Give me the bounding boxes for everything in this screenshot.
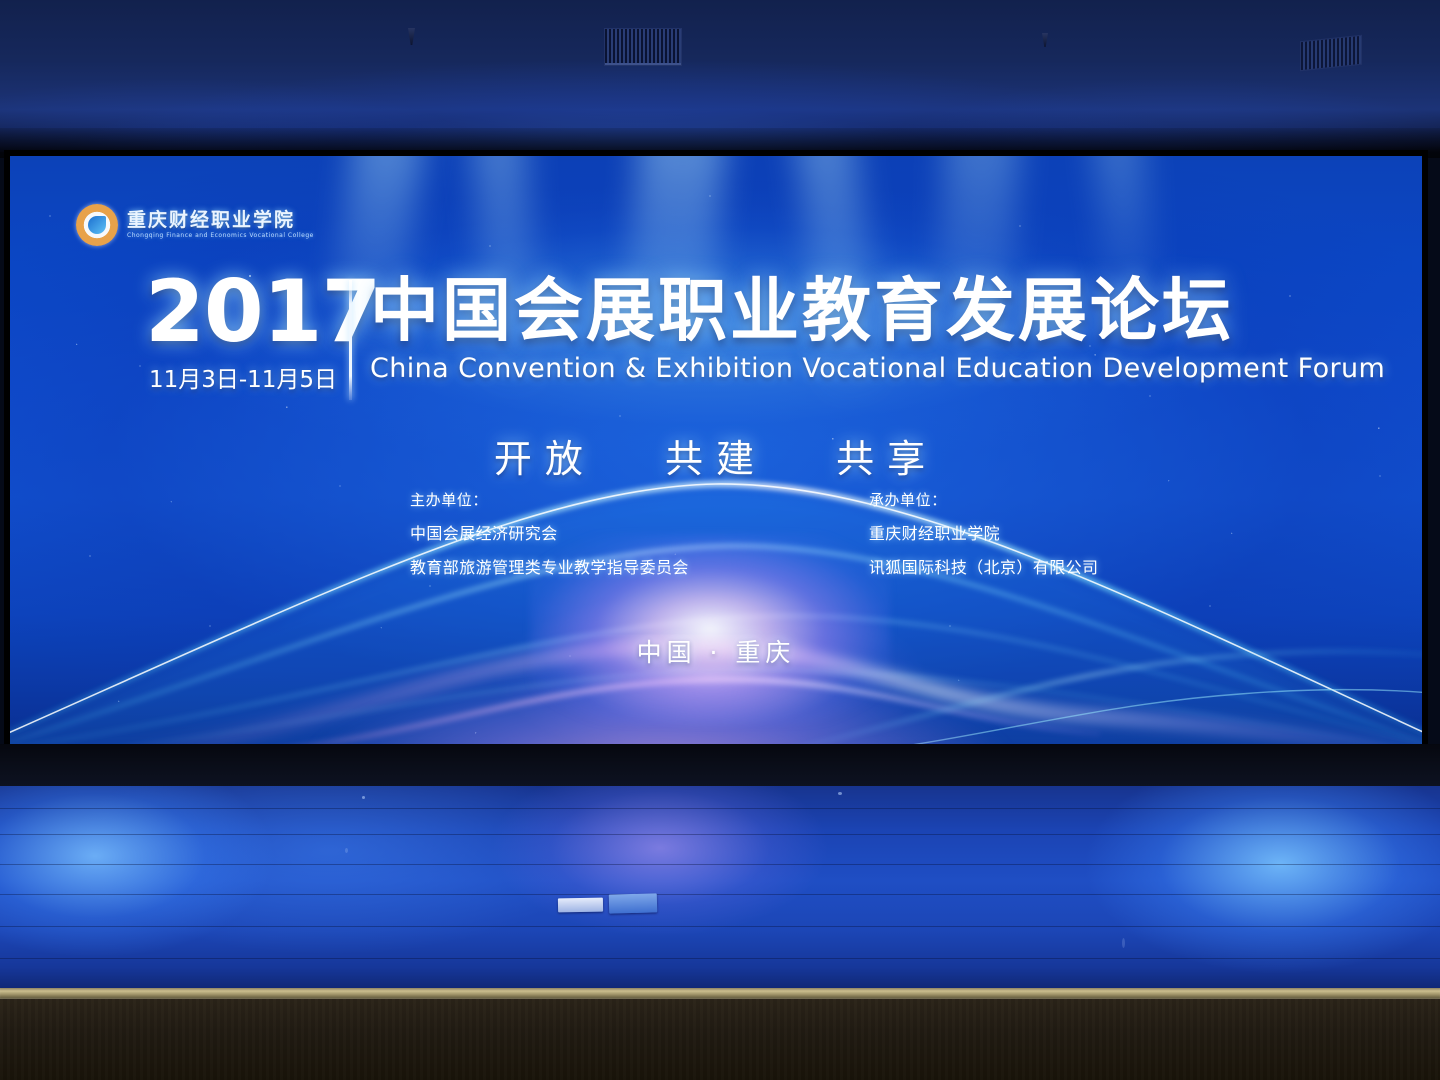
sprinkler-head-icon bbox=[1042, 33, 1048, 47]
air-vent-grille-icon bbox=[1300, 35, 1362, 72]
year-and-dates: 2017 11月3日-11月5日 bbox=[145, 276, 345, 394]
college-logo: 重庆财经职业学院 Chongqing Finance and Economics… bbox=[76, 204, 314, 246]
event-title-en: China Convention & Exhibition Vocational… bbox=[370, 353, 1385, 384]
stage-apron bbox=[0, 999, 1440, 1080]
led-screen: 重庆财经职业学院 Chongqing Finance and Economics… bbox=[10, 156, 1422, 744]
backdrop-content: 重庆财经职业学院 Chongqing Finance and Economics… bbox=[10, 156, 1422, 744]
floor-plank-line bbox=[0, 894, 1440, 895]
event-location: 中国 · 重庆 bbox=[10, 633, 1422, 669]
host-organizers-heading: 主办单位： bbox=[410, 489, 689, 510]
organizers-block: 主办单位： 中国会展经济研究会 教育部旅游管理类专业教学指导委员会 承办单位： … bbox=[410, 489, 1098, 578]
floor-speck bbox=[362, 796, 365, 799]
host-organizers: 主办单位： 中国会展经济研究会 教育部旅游管理类专业教学指导委员会 bbox=[410, 489, 689, 578]
college-name-en: Chongqing Finance and Economics Vocation… bbox=[127, 232, 314, 239]
screen-lower-shadow-band bbox=[0, 744, 1440, 788]
college-name-cn: 重庆财经职业学院 bbox=[127, 211, 314, 231]
floor-speck bbox=[838, 792, 842, 795]
event-name: 中国会展职业教育发展论坛 China Convention & Exhibiti… bbox=[370, 276, 1385, 384]
slogan-word: 共建 bbox=[665, 437, 767, 481]
floor-speck bbox=[1122, 938, 1125, 948]
stage-edge-nosing bbox=[0, 988, 1440, 999]
co-organizers: 承办单位： 重庆财经职业学院 讯狐国际科技（北京）有限公司 bbox=[869, 489, 1099, 578]
event-title-block: 2017 11月3日-11月5日 中国会展职业教育发展论坛 China Conv… bbox=[145, 276, 1385, 400]
slogan-word: 开放 bbox=[494, 437, 596, 481]
floor-plank-line bbox=[0, 864, 1440, 865]
college-emblem-icon bbox=[76, 204, 118, 246]
event-slogan: 开放 共建 共享 bbox=[10, 428, 1422, 483]
host-organizer-item: 教育部旅游管理类专业教学指导委员会 bbox=[410, 554, 689, 578]
apron-texture bbox=[0, 999, 1440, 1080]
conference-stage-photo: 重庆财经职业学院 Chongqing Finance and Economics… bbox=[0, 0, 1440, 1080]
stage-floor bbox=[0, 786, 1440, 992]
co-organizer-item: 重庆财经职业学院 bbox=[869, 520, 1099, 544]
floor-plank-line bbox=[0, 808, 1440, 809]
slogan-word: 共享 bbox=[836, 437, 938, 481]
event-title-cn: 中国会展职业教育发展论坛 bbox=[370, 276, 1385, 346]
stage-object-paper bbox=[558, 898, 603, 913]
title-divider bbox=[349, 280, 352, 400]
event-year: 2017 bbox=[145, 276, 341, 350]
event-dates: 11月3日-11月5日 bbox=[145, 360, 341, 394]
co-organizer-item: 讯狐国际科技（北京）有限公司 bbox=[869, 554, 1099, 578]
stage-object-booklet bbox=[609, 893, 657, 913]
floor-speck bbox=[345, 848, 348, 853]
floor-plank-line bbox=[0, 926, 1440, 927]
floor-plank-line bbox=[0, 834, 1440, 835]
co-organizers-heading: 承办单位： bbox=[869, 489, 1099, 510]
air-vent-grille-icon bbox=[604, 28, 682, 66]
floor-plank-line bbox=[0, 958, 1440, 959]
sprinkler-head-icon bbox=[408, 28, 415, 45]
college-logo-text: 重庆财经职业学院 Chongqing Finance and Economics… bbox=[127, 211, 314, 240]
host-organizer-item: 中国会展经济研究会 bbox=[410, 520, 689, 544]
